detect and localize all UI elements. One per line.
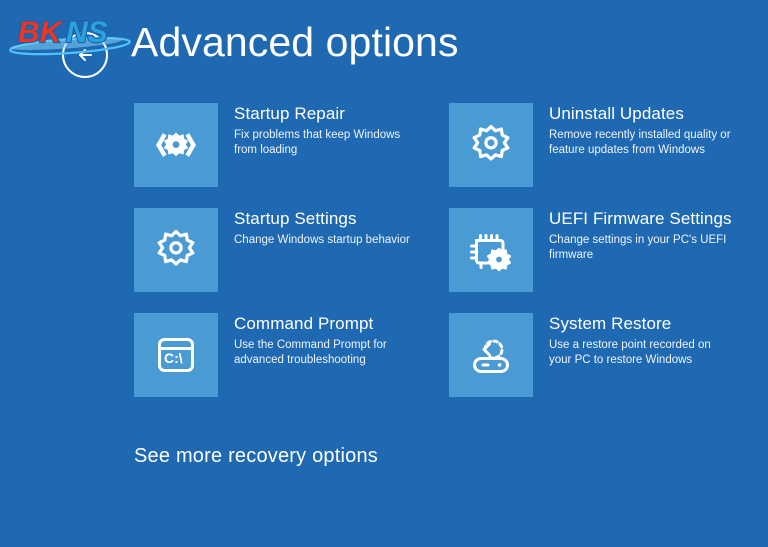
option-title: Startup Repair xyxy=(234,104,418,125)
page-title: Advanced options xyxy=(131,19,459,66)
option-tile xyxy=(134,103,218,187)
option-title: Uninstall Updates xyxy=(549,104,733,125)
option-uninstall-updates[interactable]: Uninstall Updates Remove recently instal… xyxy=(449,103,734,208)
svg-text:C:\: C:\ xyxy=(164,350,183,366)
page-header: Advanced options BK NS xyxy=(0,0,768,95)
repair-gear-brackets-icon xyxy=(152,125,200,165)
command-prompt-icon: C:\ xyxy=(153,332,199,378)
options-row: Startup Repair Fix problems that keep Wi… xyxy=(134,103,734,208)
option-description: Use a restore point recorded on your PC … xyxy=(549,338,733,369)
option-tile xyxy=(449,208,533,292)
option-description: Change settings in your PC's UEFI firmwa… xyxy=(549,233,733,264)
option-description: Fix problems that keep Windows from load… xyxy=(234,128,418,159)
option-tile: C:\ xyxy=(134,313,218,397)
option-startup-repair[interactable]: Startup Repair Fix problems that keep Wi… xyxy=(134,103,449,208)
options-row: Startup Settings Change Windows startup … xyxy=(134,208,734,313)
option-title: Startup Settings xyxy=(234,209,410,230)
option-text: Startup Repair Fix problems that keep Wi… xyxy=(218,103,418,159)
option-title: UEFI Firmware Settings xyxy=(549,209,733,230)
option-uefi-firmware-settings[interactable]: UEFI Firmware Settings Change settings i… xyxy=(449,208,734,313)
drive-restore-icon xyxy=(468,332,514,378)
option-tile xyxy=(134,208,218,292)
option-text: Command Prompt Use the Command Prompt fo… xyxy=(218,313,418,369)
back-button[interactable] xyxy=(62,32,108,78)
advanced-options-grid: Startup Repair Fix problems that keep Wi… xyxy=(134,103,734,418)
option-title: System Restore xyxy=(549,314,733,335)
gear-icon xyxy=(153,227,199,273)
gear-icon xyxy=(468,122,514,168)
option-startup-settings[interactable]: Startup Settings Change Windows startup … xyxy=(134,208,449,313)
see-more-recovery-options-link[interactable]: See more recovery options xyxy=(134,445,378,468)
options-row: C:\ Command Prompt Use the Command Promp… xyxy=(134,313,734,418)
option-system-restore[interactable]: System Restore Use a restore point recor… xyxy=(449,313,734,418)
option-description: Change Windows startup behavior xyxy=(234,233,410,248)
option-tile xyxy=(449,103,533,187)
option-text: Uninstall Updates Remove recently instal… xyxy=(533,103,733,159)
option-text: Startup Settings Change Windows startup … xyxy=(218,208,410,248)
back-arrow-icon xyxy=(73,43,97,67)
option-text: UEFI Firmware Settings Change settings i… xyxy=(533,208,733,264)
option-tile xyxy=(449,313,533,397)
option-description: Remove recently installed quality or fea… xyxy=(549,128,733,159)
option-text: System Restore Use a restore point recor… xyxy=(533,313,733,369)
chip-gear-icon xyxy=(467,227,515,273)
logo-text-bk: BK xyxy=(18,16,64,49)
option-command-prompt[interactable]: C:\ Command Prompt Use the Command Promp… xyxy=(134,313,449,418)
option-description: Use the Command Prompt for advanced trou… xyxy=(234,338,418,369)
option-title: Command Prompt xyxy=(234,314,418,335)
